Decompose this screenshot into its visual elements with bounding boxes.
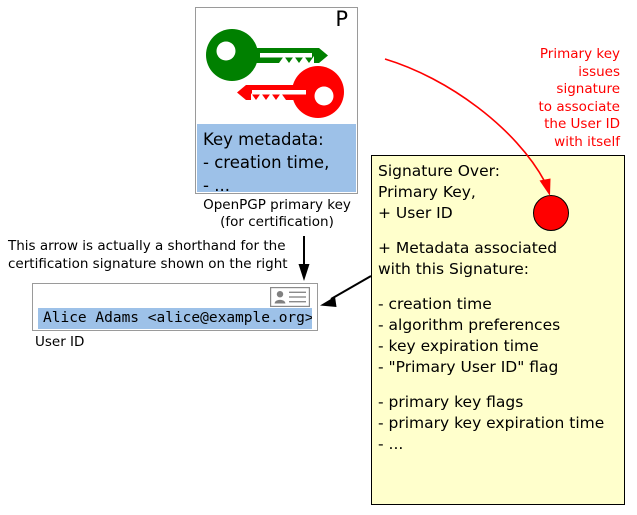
id-card-icon (270, 287, 310, 307)
diagram-canvas: P Key metadata: - creation time, - ... O… (0, 0, 637, 515)
signature-line: + User ID (378, 203, 624, 224)
key-metadata-block: Key metadata: - creation time, - ... (197, 124, 356, 192)
red-annotation-line: with itself (470, 134, 620, 152)
red-annotation-line: signature (470, 81, 620, 99)
signature-line: - ... (378, 434, 624, 455)
signature-line: - algorithm preferences (378, 315, 624, 336)
signature-spacer (378, 378, 624, 392)
key-metadata-line: - ... (203, 174, 356, 192)
red-annotation-line: Primary key (470, 46, 620, 64)
key-pair-icon (196, 22, 356, 122)
userid-value: Alice Adams <alice@example.org> (38, 308, 312, 329)
red-annotation-line: issues (470, 64, 620, 82)
signature-line: - "Primary User ID" flag (378, 357, 624, 378)
key-metadata-line: - creation time, (203, 151, 356, 174)
signature-box: Signature Over: Primary Key, + User ID +… (371, 155, 625, 505)
signature-line: Primary Key, (378, 182, 624, 203)
signature-line: - key expiration time (378, 336, 624, 357)
down-arrow-icon (299, 236, 310, 281)
primary-key-card: P Key metadata: - creation time, - ... (195, 7, 358, 194)
primary-key-caption-line: (for certification) (196, 214, 358, 231)
signature-line: - creation time (378, 294, 624, 315)
primary-key-caption: OpenPGP primary key (for certification) (196, 197, 358, 231)
left-arrow-icon (320, 276, 371, 307)
userid-card: Alice Adams <alice@example.org> (32, 283, 318, 331)
red-annotation-line: to associate (470, 99, 620, 117)
signature-line: with this Signature: (378, 259, 624, 280)
shorthand-note: This arrow is actually a shorthand for t… (8, 238, 288, 273)
signature-spacer (378, 280, 624, 294)
userid-caption: User ID (35, 334, 84, 351)
signature-red-dot (533, 195, 569, 231)
shorthand-note-line: This arrow is actually a shorthand for t… (8, 238, 288, 256)
signature-line: Signature Over: (378, 161, 624, 182)
red-annotation-line: the User ID (470, 116, 620, 134)
signature-line: - primary key flags (378, 392, 624, 413)
red-annotation-text: Primary key issues signature to associat… (470, 46, 620, 151)
signature-line: + Metadata associated (378, 238, 624, 259)
signature-line: - primary key expiration time (378, 413, 624, 434)
key-metadata-line: Key metadata: (203, 128, 356, 151)
signature-spacer (378, 224, 624, 238)
primary-key-caption-line: OpenPGP primary key (196, 197, 358, 214)
shorthand-note-line: certification signature shown on the rig… (8, 256, 288, 274)
